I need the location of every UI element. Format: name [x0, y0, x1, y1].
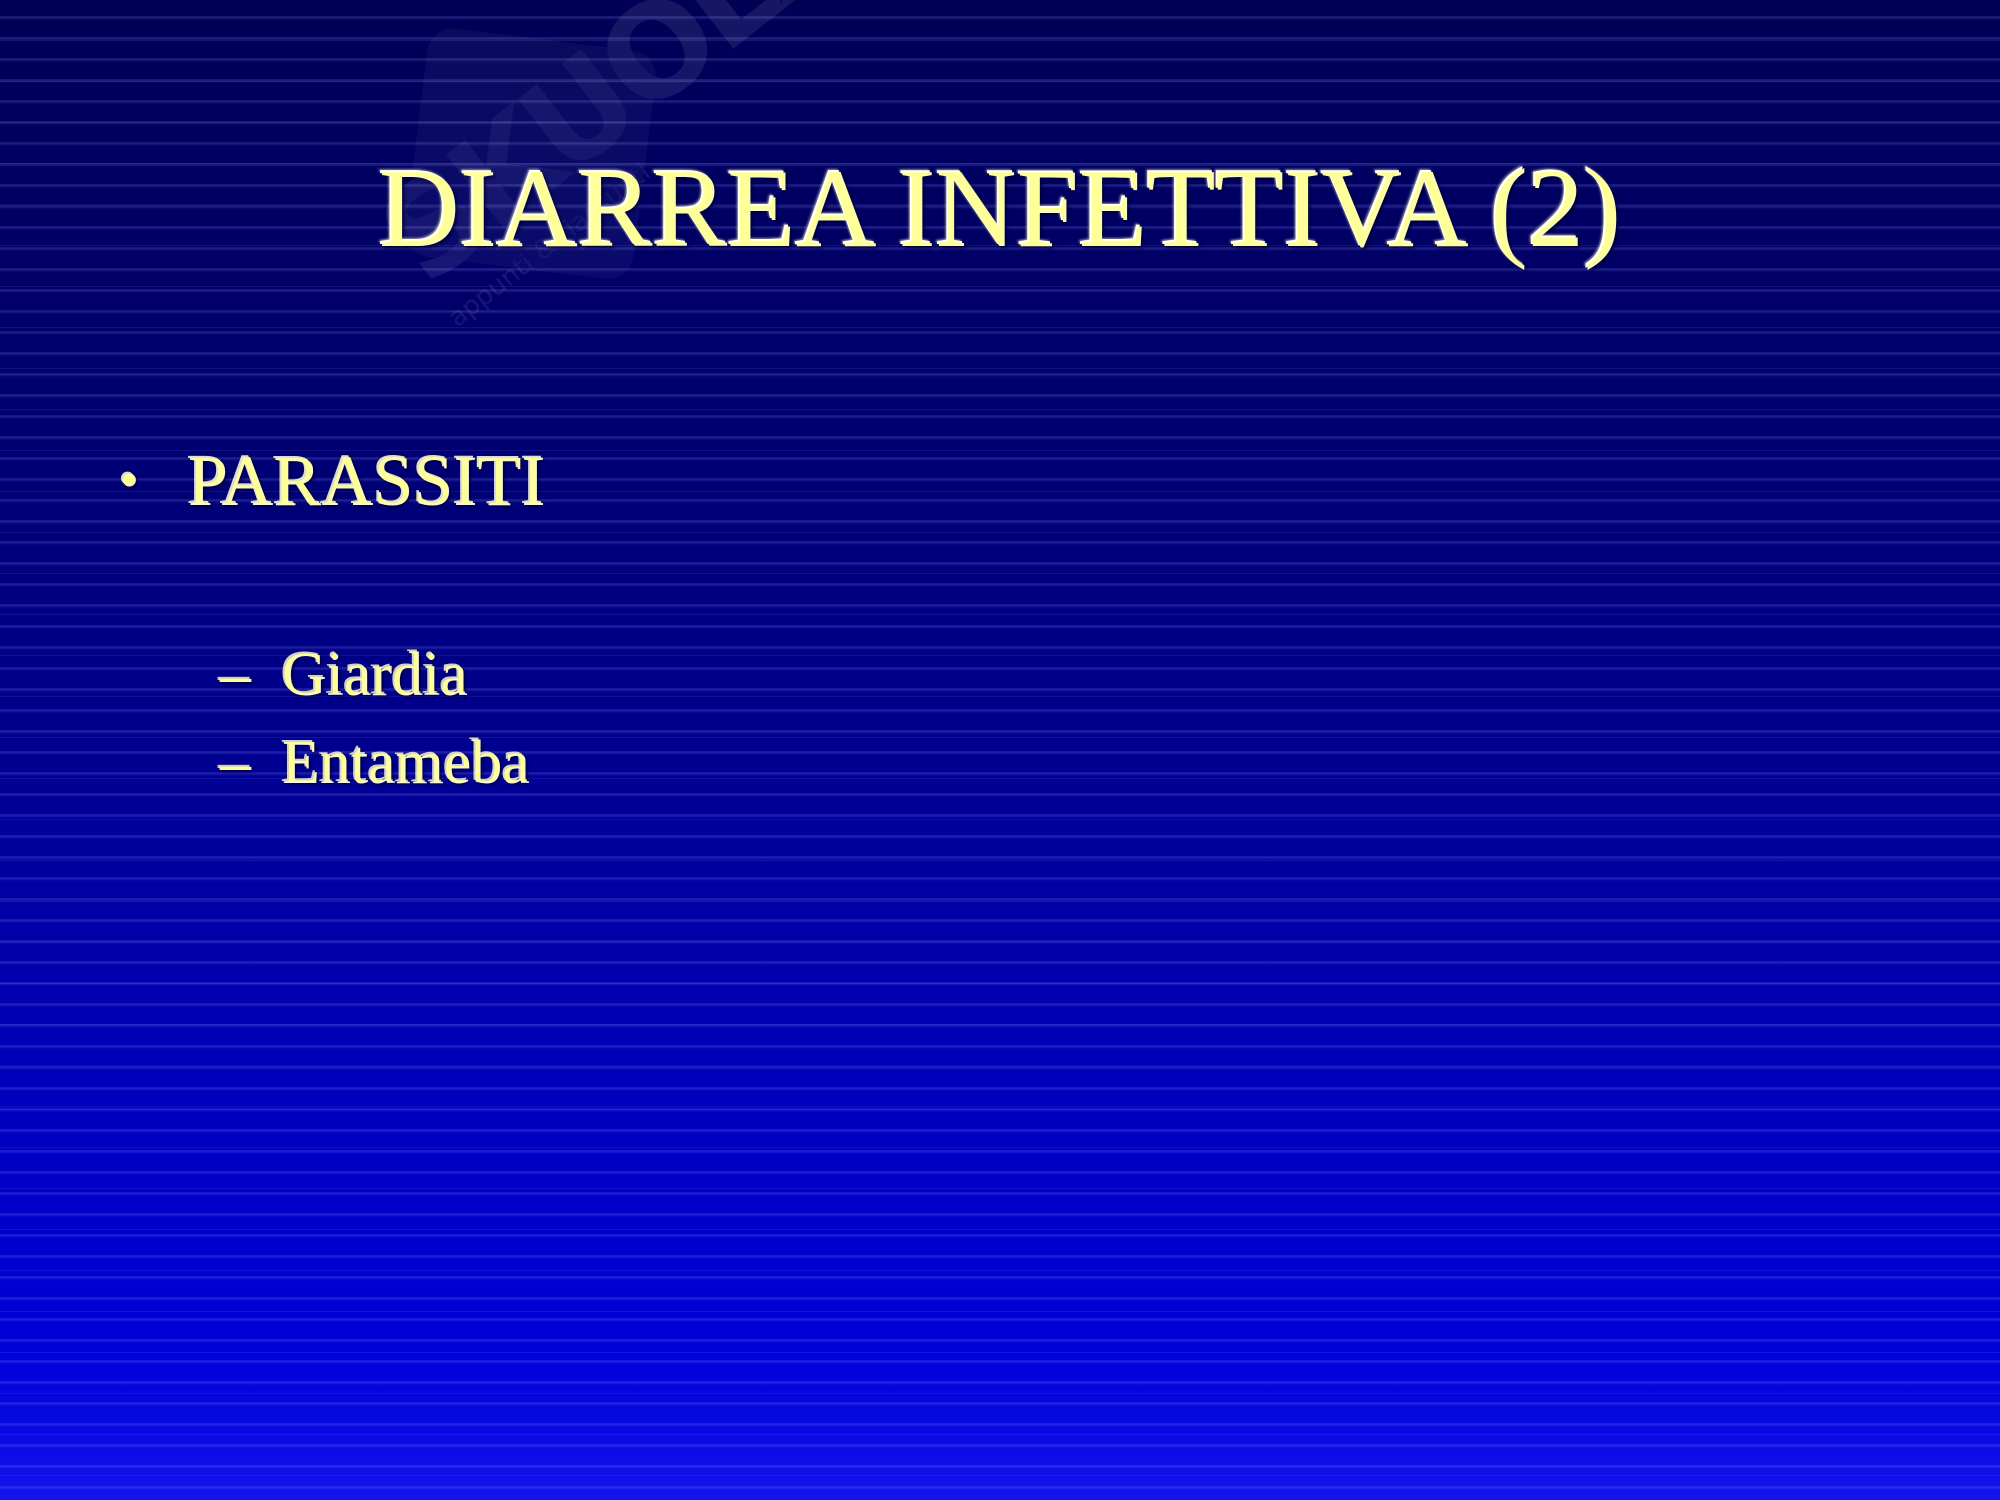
bullet-item-level2: – Giardia: [220, 631, 1920, 719]
slide-body: • PARASSITI – Giardia – Entameba: [120, 440, 1920, 807]
bullet-label-entameba: Entameba: [282, 719, 530, 807]
round-bullet-icon: •: [120, 440, 188, 521]
dash-bullet-icon: –: [220, 719, 282, 807]
bullet-label-parassiti: PARASSITI: [188, 440, 545, 523]
dash-bullet-icon: –: [220, 631, 282, 719]
slide-title: DIARREA INFETTIVA (2): [0, 150, 2000, 269]
bullet-item-level2: – Entameba: [220, 719, 1920, 807]
bullet-label-giardia: Giardia: [282, 631, 468, 719]
presentation-slide: SKUOLA.net appunti & riassunti DIARREA I…: [0, 0, 2000, 1500]
bullet-sublist: – Giardia – Entameba: [120, 631, 1920, 807]
bullet-item-level1: • PARASSITI: [120, 440, 1920, 523]
